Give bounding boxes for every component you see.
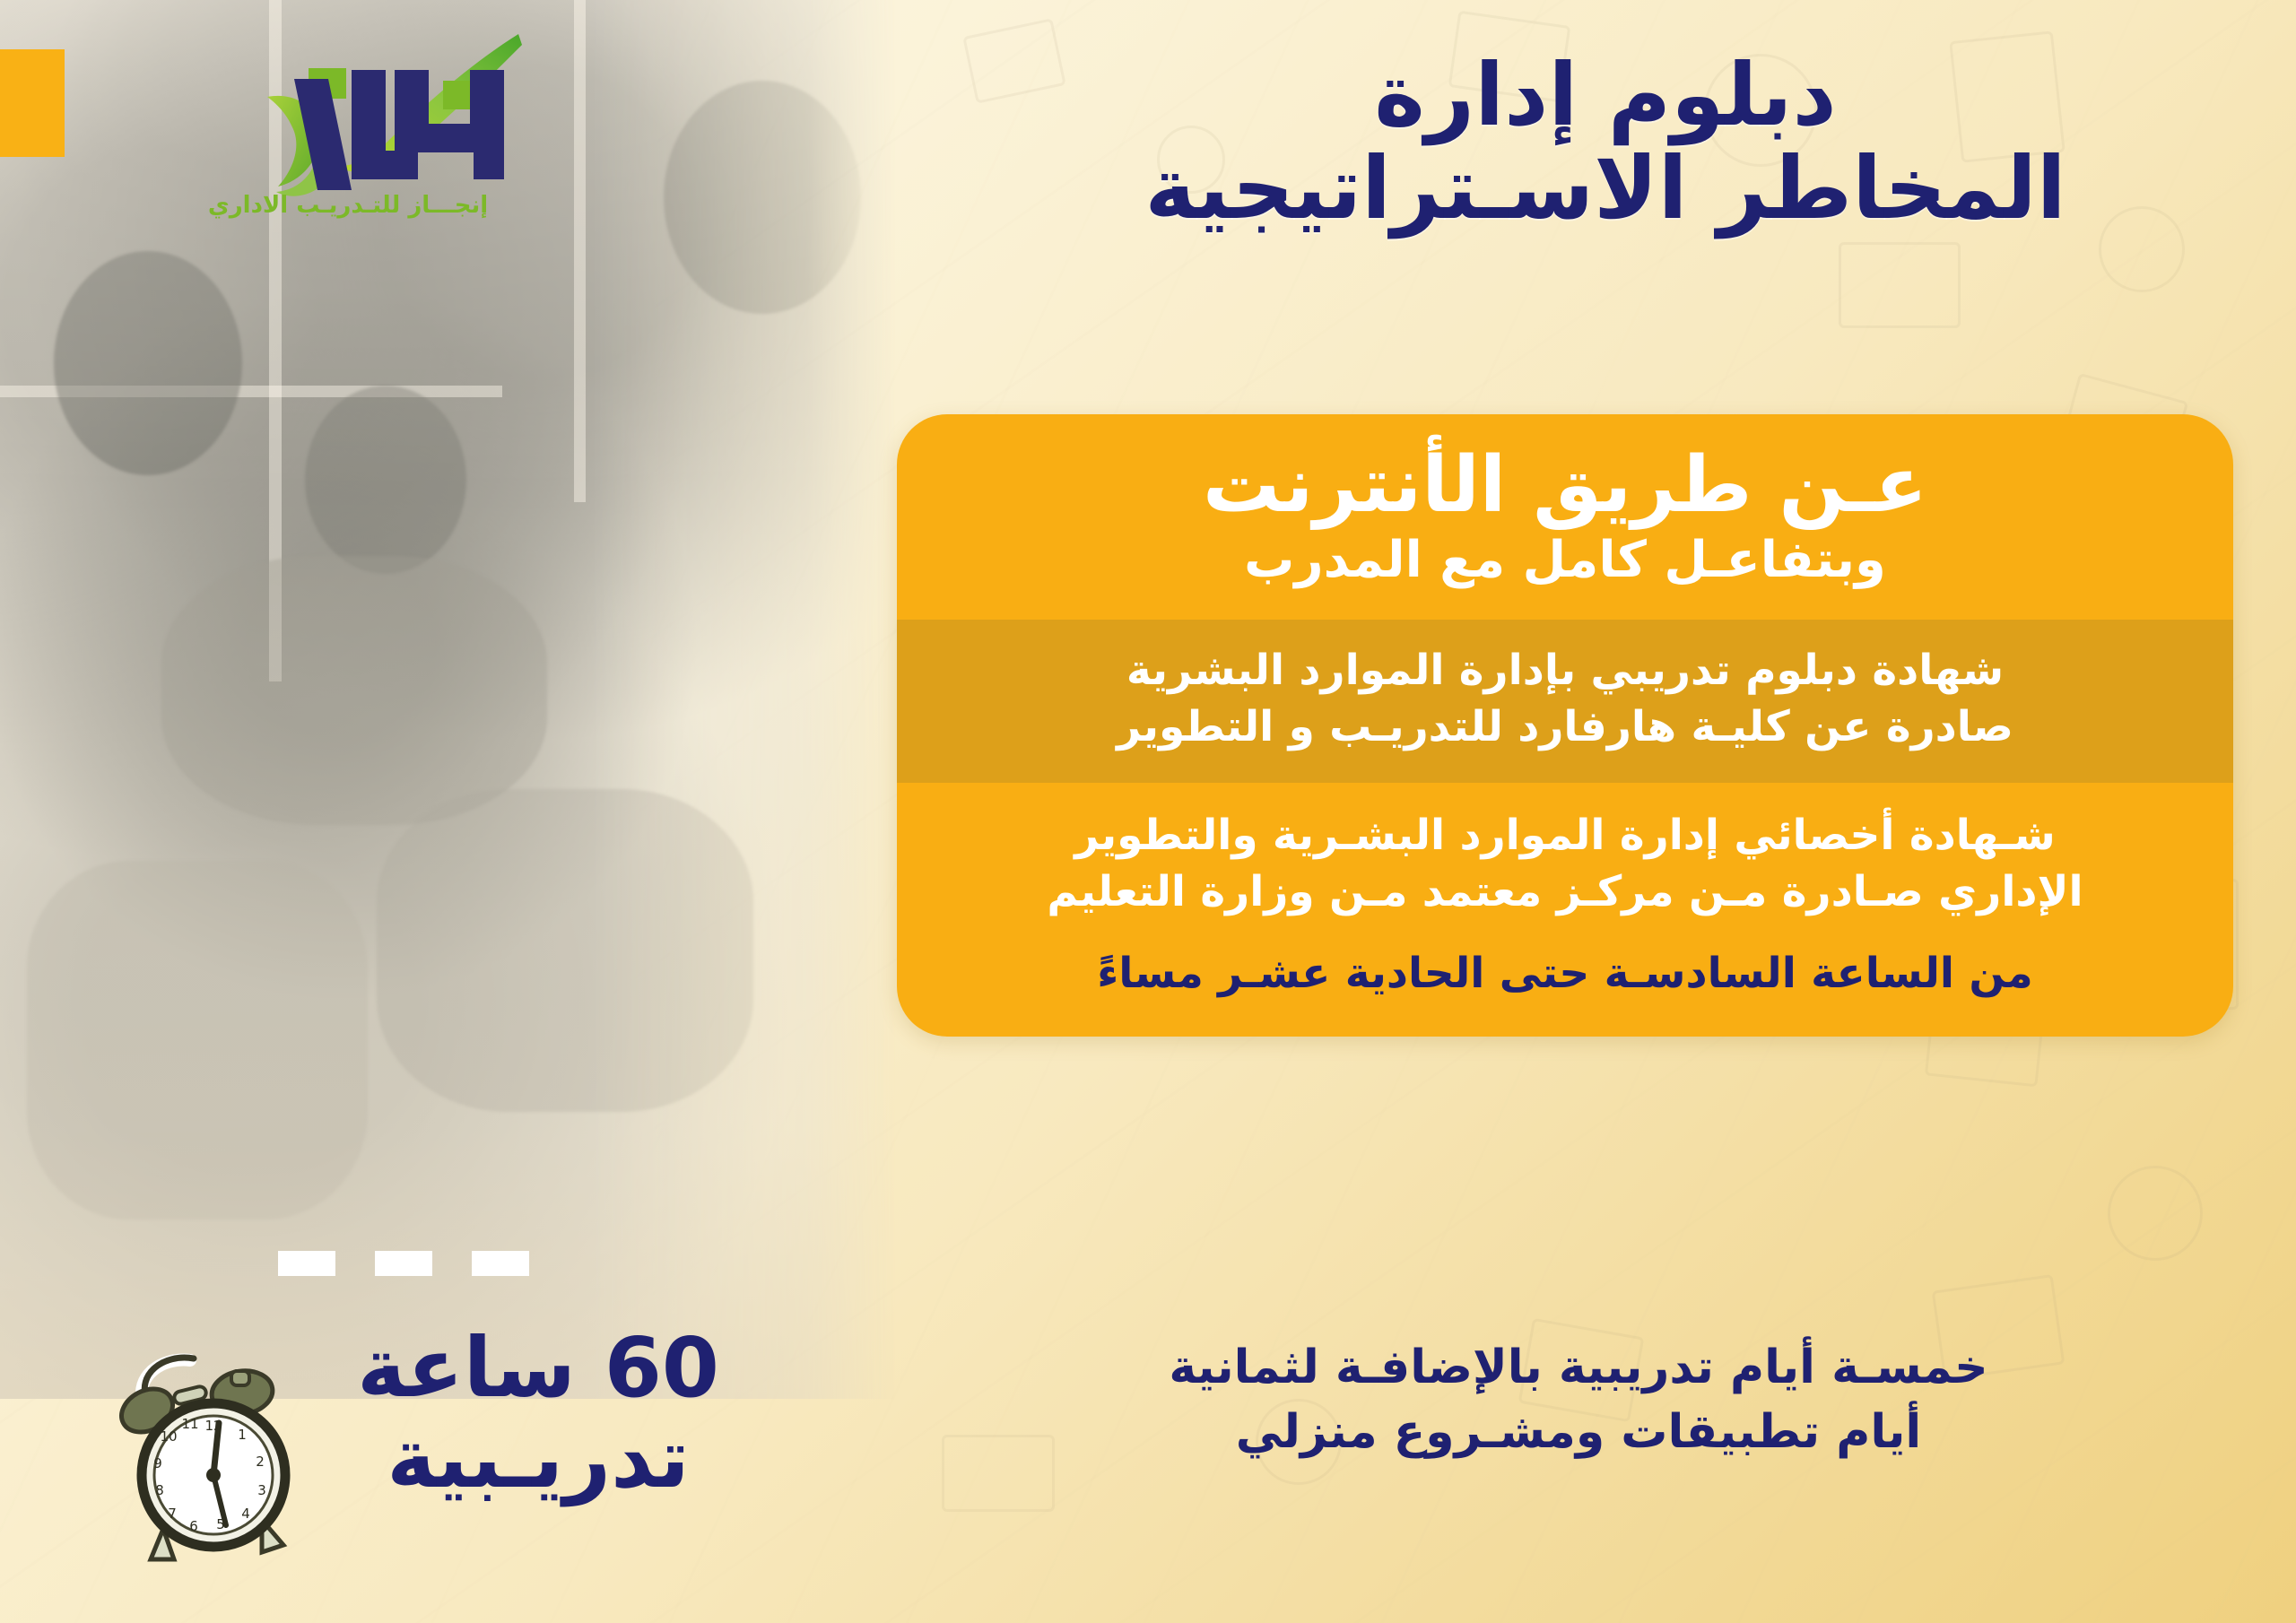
svg-text:9: 9 [153, 1455, 162, 1471]
specialist-line-1: شـهادة أخصائي إدارة الموارد البشـرية وال… [952, 808, 2178, 864]
hours-line-2: تدريـبية [287, 1413, 789, 1504]
schedule-band: من الساعة السادسـة حتى الحادية عشـر مساء… [897, 941, 2233, 1037]
specialist-band: شـهادة أخصائي إدارة الموارد البشـرية وال… [897, 783, 2233, 941]
specialist-line-2: الإداري صـادرة مـن مركـز معتمد مـن وزارة… [952, 864, 2178, 921]
title-line-1: دبلوم إدارة [1374, 45, 1836, 145]
dash-separator [278, 1251, 529, 1276]
card-subheadline: وبتفاعـل كامل مع المدرب [951, 533, 2179, 589]
page-title: دبلوم إدارة المخاطر الاسـتراتيجية [969, 52, 2242, 233]
svg-text:11: 11 [181, 1416, 198, 1432]
schedule-line: من الساعة السادسـة حتى الحادية عشـر مساء… [952, 946, 2178, 1001]
svg-text:2: 2 [256, 1454, 265, 1470]
svg-text:7: 7 [168, 1506, 177, 1522]
certificate-line-2: صادرة عن كليـة هارفارد للتدريـب و التطوي… [952, 699, 2178, 756]
logo-tagline: إنجـــاز للتـدريـب الاداري [160, 192, 536, 219]
card-headline: عـن طريق الأنترنت [951, 445, 2179, 525]
training-hours-badge: 60 ساعة تدريـبية 12 1 2 3 4 5 6 [108, 1305, 789, 1574]
title-line-2: المخاطر الاسـتراتيجية [969, 145, 2242, 233]
course-info-card: عـن طريق الأنترنت وبتفاعـل كامل مع المدر… [897, 414, 2233, 1037]
alarm-clock-icon: 12 1 2 3 4 5 6 7 8 9 10 11 [108, 1341, 314, 1565]
svg-text:3: 3 [257, 1482, 266, 1498]
brand-logo: إنجـــاز للتـدريـب الاداري [160, 14, 536, 239]
hours-label: 60 ساعة تدريـبية [287, 1323, 789, 1504]
program-duration-note: خمسـة أيام تدريبية بالإضافـة لثمانية أيا… [960, 1336, 2197, 1465]
enjaz-logo-icon [160, 14, 536, 203]
svg-text:6: 6 [189, 1518, 198, 1534]
corner-accent-tab [0, 49, 65, 157]
duration-line-2: أيام تطبيقات ومشـروع منزلي [960, 1401, 2197, 1465]
card-headline-section: عـن طريق الأنترنت وبتفاعـل كامل مع المدر… [897, 414, 2233, 620]
svg-text:4: 4 [241, 1506, 250, 1522]
dash-1 [472, 1251, 529, 1276]
dash-2 [375, 1251, 432, 1276]
svg-text:1: 1 [238, 1427, 247, 1443]
svg-text:8: 8 [155, 1482, 164, 1498]
hours-line-1: 60 ساعة [357, 1320, 719, 1416]
svg-text:10: 10 [160, 1428, 177, 1445]
certificate-band: شهادة دبلوم تدريبي بإدارة الموارد البشري… [897, 620, 2233, 783]
duration-line-1: خمسـة أيام تدريبية بالإضافـة لثمانية [960, 1336, 2197, 1401]
certificate-line-1: شهادة دبلوم تدريبي بإدارة الموارد البشري… [952, 643, 2178, 699]
poster-canvas: إنجـــاز للتـدريـب الاداري دبلوم إدارة ا… [0, 0, 2296, 1623]
dash-3 [278, 1251, 335, 1276]
